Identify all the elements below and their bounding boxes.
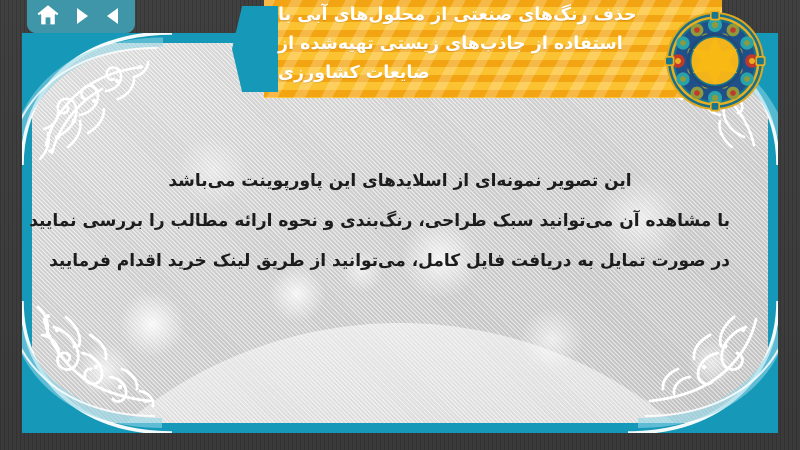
slide-title: حذف رنگ‌های صنعتی از محلول‌های آبی با اس… xyxy=(278,0,714,98)
navigation-bar xyxy=(27,0,135,33)
slide-screenshot: این تصویر نمونه‌ای از اسلایدهای این پاور… xyxy=(0,0,800,450)
slide-title-banner: حذف رنگ‌های صنعتی از محلول‌های آبی با اس… xyxy=(232,0,722,98)
home-button[interactable] xyxy=(36,4,60,28)
body-line-3: در صورت تمایل به دریافت فایل کامل، می‌تو… xyxy=(70,241,730,281)
body-line-1: این تصویر نمونه‌ای از اسلایدهای این پاور… xyxy=(70,161,730,201)
title-line-3: ضایعات کشاورزی xyxy=(278,59,430,88)
title-pennant-arrow xyxy=(232,6,278,92)
body-line-2: با مشاهده آن می‌توانید سبک طراحی، رنگ‌بن… xyxy=(70,201,730,241)
slide-body-text: این تصویر نمونه‌ای از اسلایدهای این پاور… xyxy=(70,161,730,281)
persian-tile-medallion-icon xyxy=(663,9,767,113)
forward-button[interactable] xyxy=(69,4,93,28)
title-line-2: استفاده از جاذب‌های زیستی تهیه‌شده از xyxy=(278,30,623,59)
title-line-1: حذف رنگ‌های صنعتی از محلول‌های آبی با xyxy=(278,1,637,30)
back-button[interactable] xyxy=(102,4,126,28)
